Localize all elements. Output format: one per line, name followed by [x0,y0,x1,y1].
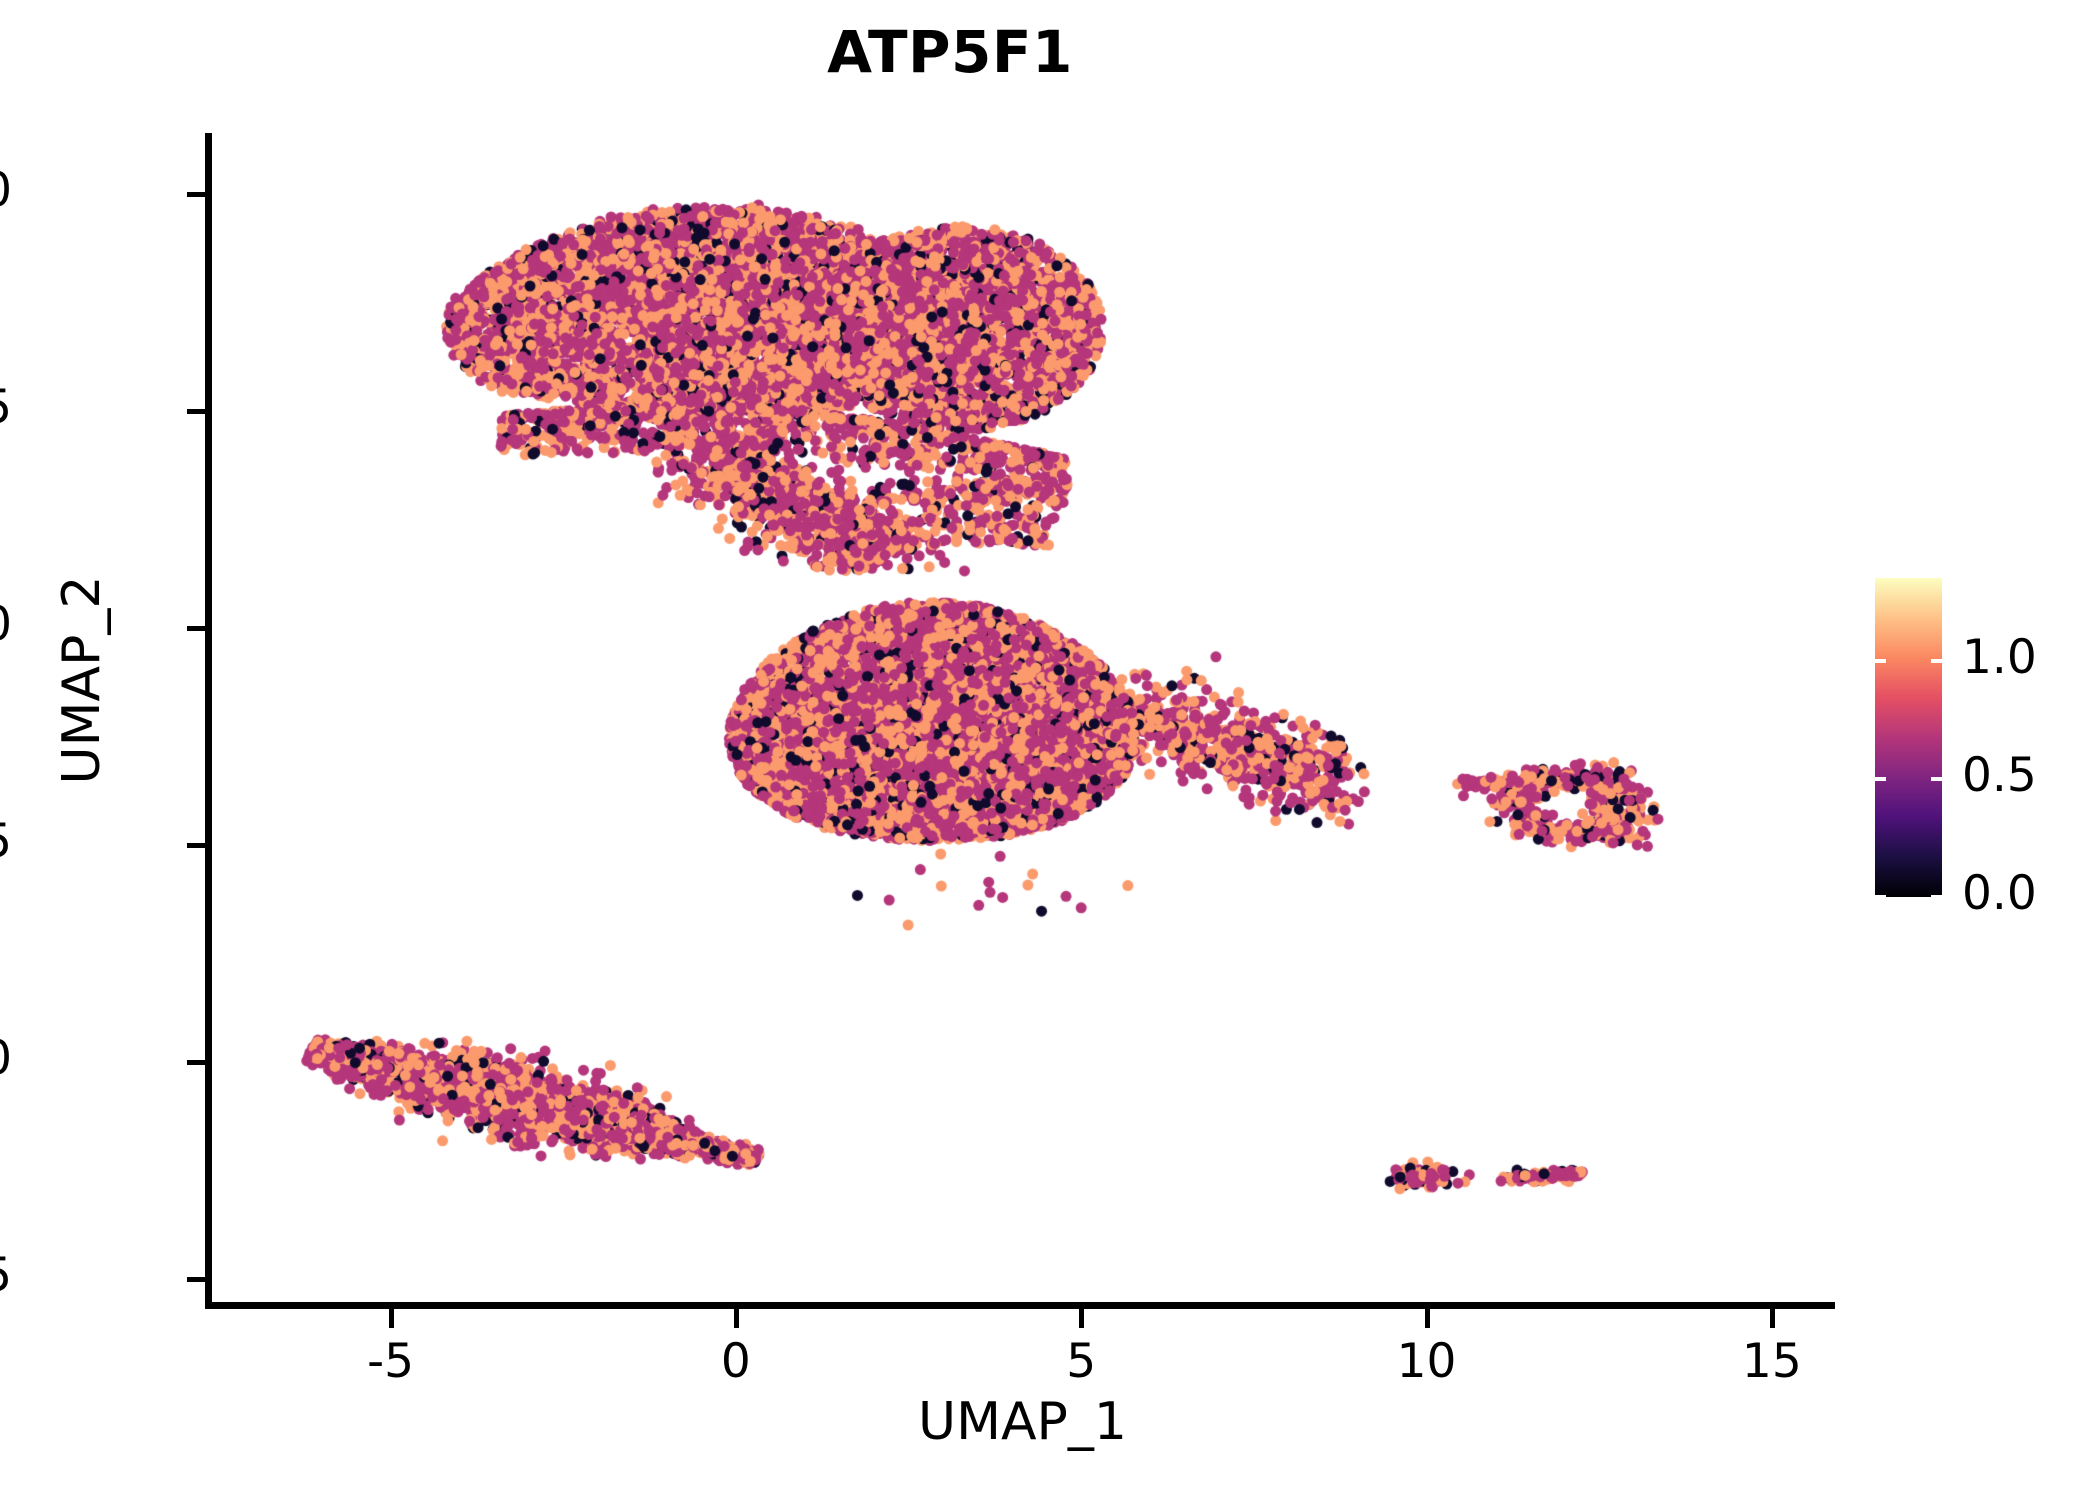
y-tick-label: 5 [0,814,12,869]
scatter-canvas [211,133,1834,1305]
y-tick-mark [187,843,206,848]
y-tick-label: 10 [0,597,12,652]
colorbar [1875,578,1942,897]
y-tick-mark [187,1060,206,1065]
x-tick-mark [1770,1309,1775,1328]
x-tick-label: 5 [981,1334,1181,1389]
y-tick-mark [187,626,206,631]
x-axis-label: UMAP_1 [211,1392,1834,1452]
plot-area [211,133,1834,1305]
y-tick-mark [187,192,206,197]
x-tick-mark [1079,1309,1084,1328]
page-title: ATP5F1 [0,18,1900,86]
y-axis-label: UMAP_2 [52,230,112,1130]
colorbar-tick-label: 0.5 [1962,748,2100,803]
y-tick-mark [187,409,206,414]
colorbar-tick-mark [1875,895,1886,899]
y-tick-label: 20 [0,163,12,218]
y-axis-spine [205,133,212,1309]
umap-feature-plot-figure: ATP5F1 -505101520-5051015 UMAP_1 UMAP_2 … [0,0,2100,1500]
colorbar-tick-label: 0.0 [1962,866,2100,921]
colorbar-gradient [1875,578,1942,897]
y-tick-label: -5 [0,1248,12,1303]
y-tick-mark [187,1277,206,1282]
colorbar-tick-mark [1931,895,1942,899]
colorbar-tick-mark [1931,659,1942,663]
x-tick-mark [734,1309,739,1328]
x-tick-mark [1425,1309,1430,1328]
y-tick-label: 15 [0,380,12,435]
x-tick-label: -5 [291,1334,491,1389]
y-tick-label: 0 [0,1031,12,1086]
x-tick-label: 0 [636,1334,836,1389]
colorbar-tick-mark [1931,777,1942,781]
colorbar-tick-label: 1.0 [1962,630,2100,685]
colorbar-tick-mark [1875,659,1886,663]
x-tick-mark [389,1309,394,1328]
x-tick-label: 15 [1672,1334,1872,1389]
x-tick-label: 10 [1327,1334,1527,1389]
x-axis-spine [205,1302,1835,1309]
colorbar-tick-mark [1875,777,1886,781]
